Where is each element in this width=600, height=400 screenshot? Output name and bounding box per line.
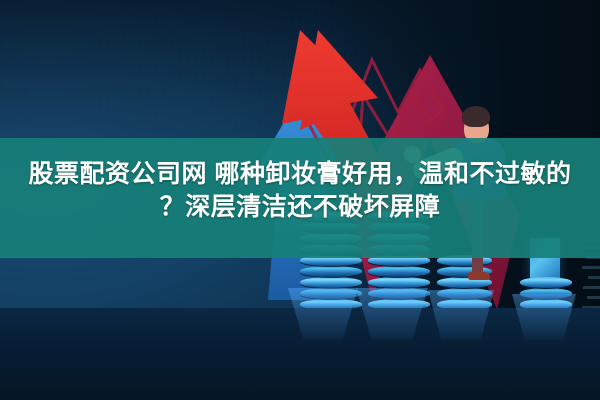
person-hair xyxy=(462,106,490,127)
headline-banner-text: 股票配资公司网 哪种卸妆膏好用，温和不过敏的 ？深层清洁还不破坏屏障 xyxy=(0,158,600,224)
headline-line-1: 股票配资公司网 哪种卸妆膏好用，温和不过敏的 xyxy=(8,158,592,191)
banner-image: 股票配资公司网 哪种卸妆膏好用，温和不过敏的 ？深层清洁还不破坏屏障 xyxy=(0,0,600,400)
headline-line-2: ？深层清洁还不破坏屏障 xyxy=(8,191,592,224)
person-shoe xyxy=(468,272,490,280)
